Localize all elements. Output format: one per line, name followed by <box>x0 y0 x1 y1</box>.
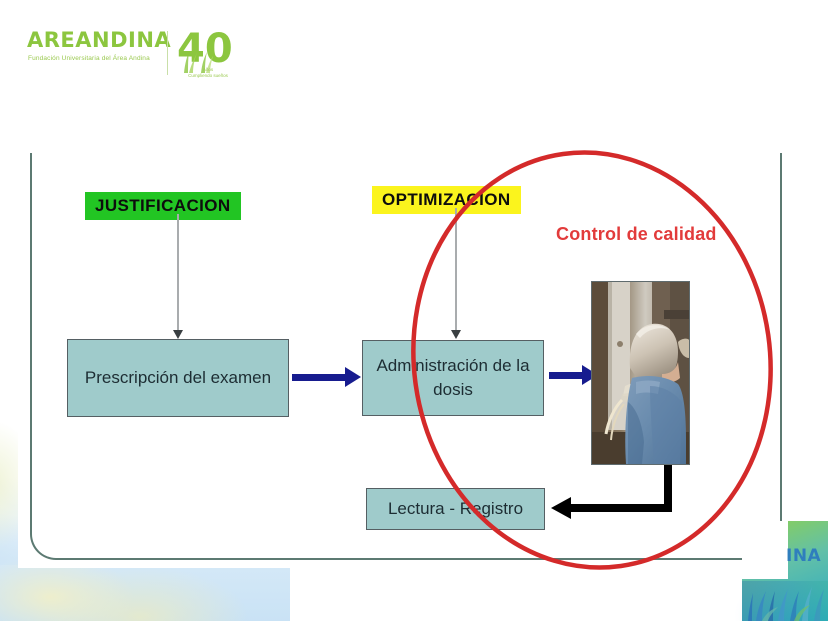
logo-anniversary-caption: Años Cumpliendo sueños <box>185 67 231 79</box>
logo-divider <box>167 31 168 75</box>
label-justificacion: JUSTIFICACION <box>85 192 241 220</box>
red-highlight-ellipse <box>396 142 796 582</box>
box-prescripcion-del-examen: Prescripción del examen <box>67 339 289 417</box>
arrow-prescripcion-to-administracion-shaft <box>292 374 348 381</box>
logo-anniversary-caption-line1: Años <box>203 67 213 72</box>
corner-badge-label: INA <box>786 546 821 566</box>
connector-justificacion-arrowhead <box>173 330 183 339</box>
corner-badge: INA <box>742 521 828 621</box>
areandina-logo: AREANDINA Fundación Universitaria del Ár… <box>27 29 199 77</box>
red-highlight-ellipse-shape <box>396 142 796 582</box>
corner-badge-base <box>742 581 828 621</box>
box-prescripcion-label: Prescripción del examen <box>85 366 271 390</box>
logo-tagline: Fundación Universitaria del Área Andina <box>28 55 150 62</box>
logo-wordmark: AREANDINA <box>27 29 171 51</box>
logo-anniversary-caption-line2: Cumpliendo sueños <box>188 73 228 78</box>
arrow-prescripcion-to-administracion-head <box>345 367 361 387</box>
slide-canvas: AREANDINA Fundación Universitaria del Ár… <box>0 0 828 621</box>
connector-justificacion-line <box>177 214 179 332</box>
